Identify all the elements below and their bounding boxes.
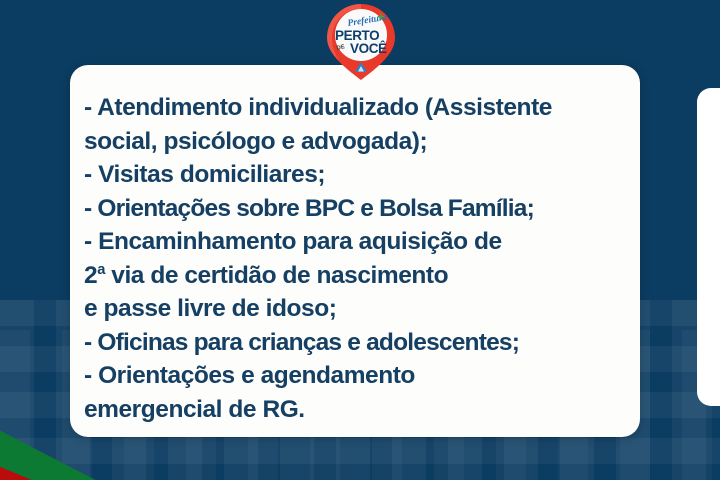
service-line-3: - Visitas domiciliares; (84, 158, 622, 192)
adjacent-card-partial (697, 88, 720, 406)
service-line-10: emergencial de RG. (84, 393, 622, 427)
ordinal-indicator: a (97, 261, 105, 277)
second-copy-rest: via de certidão de nascimento (105, 262, 448, 289)
content-card-body: - Atendimento individualizado (Assistent… (70, 65, 640, 426)
service-line-6: 2a via de certidão de nascimento (84, 259, 622, 293)
service-line-7: e passe livre de idoso; (84, 292, 622, 326)
logo-word-voce: VOCÊ (350, 41, 387, 56)
content-card: - Atendimento individualizado (Assistent… (70, 65, 640, 437)
logo-word-plus: + (377, 9, 385, 24)
poster-canvas: - Atendimento individualizado (Assistent… (0, 0, 720, 480)
service-line-4: - Orientações sobre BPC e Bolsa Família; (84, 192, 622, 226)
second-copy-number: 2 (84, 262, 97, 289)
service-line-5: - Encaminhamento para aquisição de (84, 225, 622, 259)
service-line-2: social, psicólogo e advogada); (84, 125, 622, 159)
service-line-1: - Atendimento individualizado (Assistent… (84, 91, 622, 125)
prefeitura-logo: Prefeitura + PERTO DE VOCÊ (320, 2, 402, 82)
service-line-8: - Oficinas para crianças e adolescentes; (84, 326, 622, 360)
service-line-9: - Orientações e agendamento (84, 359, 622, 393)
